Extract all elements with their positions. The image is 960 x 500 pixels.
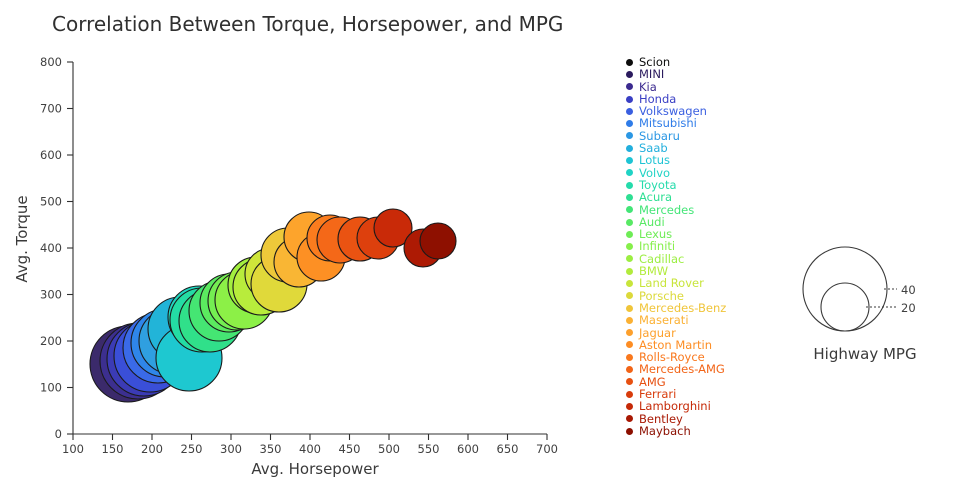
y-tick-label: 400	[40, 241, 62, 255]
legend-swatch-icon	[626, 71, 633, 78]
legend-swatch-icon	[626, 145, 633, 152]
y-tick-layer: 0100200300400500600700800	[40, 55, 73, 441]
legend-swatch-icon	[626, 391, 633, 398]
legend-swatch-icon	[626, 206, 633, 213]
y-tick-label: 700	[40, 102, 62, 116]
x-tick-label: 150	[102, 442, 124, 456]
x-tick-layer: 100150200250300350400450500550600650700	[62, 434, 558, 456]
legend-swatch-icon	[626, 378, 633, 385]
legend-item[interactable]: Land Rover	[626, 277, 776, 289]
legend-swatch-icon	[626, 305, 633, 312]
x-tick-label: 550	[418, 442, 440, 456]
legend-swatch-icon	[626, 182, 633, 189]
bubble-maybach: Maybach	[420, 223, 456, 259]
x-tick-label: 100	[62, 442, 84, 456]
legend-item-label: Maybach	[639, 425, 691, 437]
x-tick-label: 700	[536, 442, 558, 456]
y-tick-label: 0	[55, 427, 62, 441]
size-legend-value-40: 40	[901, 283, 916, 297]
x-tick-label: 600	[457, 442, 479, 456]
legend-item-label: MINI	[639, 68, 664, 80]
size-legend: 4020	[803, 247, 916, 331]
legend-item[interactable]: Mercedes	[626, 204, 776, 216]
legend-item[interactable]: Maserati	[626, 314, 776, 326]
legend-swatch-icon	[626, 219, 633, 226]
legend-item-label: Mercedes	[639, 204, 694, 216]
legend-item[interactable]: Lamborghini	[626, 400, 776, 412]
legend-item[interactable]: Infiniti	[626, 240, 776, 252]
y-tick-label: 800	[40, 55, 62, 69]
color-legend: ScionMINIKiaHondaVolkswagenMitsubishiSub…	[626, 56, 776, 437]
legend-swatch-icon	[626, 341, 633, 348]
legend-swatch-icon	[626, 120, 633, 127]
legend-swatch-icon	[626, 132, 633, 139]
legend-swatch-icon	[626, 366, 633, 373]
plot-area: 0100200300400500600700800 10015020025030…	[0, 0, 960, 500]
legend-swatch-icon	[626, 354, 633, 361]
size-legend-circle-20	[821, 283, 869, 331]
legend-swatch-icon	[626, 108, 633, 115]
legend-item-label: Maserati	[639, 314, 689, 326]
legend-swatch-icon	[626, 59, 633, 66]
x-tick-label: 300	[220, 442, 242, 456]
legend-item[interactable]: Mercedes-AMG	[626, 363, 776, 375]
y-tick-label: 200	[40, 334, 62, 348]
legend-swatch-icon	[626, 280, 633, 287]
legend-swatch-icon	[626, 169, 633, 176]
legend-item[interactable]: Maybach	[626, 425, 776, 437]
x-tick-label: 450	[339, 442, 361, 456]
legend-swatch-icon	[626, 415, 633, 422]
legend-item-label: Infiniti	[639, 240, 675, 252]
legend-swatch-icon	[626, 96, 633, 103]
legend-item-label: Mercedes-AMG	[639, 363, 725, 375]
legend-item-label: Acura	[639, 191, 672, 203]
y-tick-label: 600	[40, 148, 62, 162]
legend-swatch-icon	[626, 317, 633, 324]
legend-swatch-icon	[626, 268, 633, 275]
legend-item-label: Lotus	[639, 154, 670, 166]
legend-item[interactable]: MINI	[626, 68, 776, 80]
x-tick-label: 350	[260, 442, 282, 456]
y-tick-label: 300	[40, 288, 62, 302]
legend-item-label: Land Rover	[639, 277, 704, 289]
legend-swatch-icon	[626, 194, 633, 201]
legend-swatch-icon	[626, 403, 633, 410]
y-tick-label: 100	[40, 381, 62, 395]
legend-item-label: Jaguar	[639, 327, 676, 339]
legend-item[interactable]: Lotus	[626, 154, 776, 166]
legend-item[interactable]: Mitsubishi	[626, 117, 776, 129]
x-tick-label: 500	[378, 442, 400, 456]
x-tick-label: 200	[141, 442, 163, 456]
y-tick-label: 500	[40, 195, 62, 209]
size-legend-title: Highway MPG	[770, 345, 960, 363]
bubble-chart: Correlation Between Torque, Horsepower, …	[0, 0, 960, 500]
legend-swatch-icon	[626, 255, 633, 262]
x-tick-label: 400	[299, 442, 321, 456]
x-tick-label: 650	[497, 442, 519, 456]
legend-swatch-icon	[626, 83, 633, 90]
x-tick-label: 250	[181, 442, 203, 456]
legend-swatch-icon	[626, 329, 633, 336]
legend-swatch-icon	[626, 243, 633, 250]
legend-swatch-icon	[626, 231, 633, 238]
legend-item[interactable]: Jaguar	[626, 327, 776, 339]
size-legend-value-20: 20	[901, 301, 916, 315]
bubble-layer: ScionMINIKiaHondaVolkswagenMitsubishiSub…	[90, 209, 456, 402]
legend-swatch-icon	[626, 428, 633, 435]
legend-item-label: Lamborghini	[639, 400, 711, 412]
size-legend-circle-40	[803, 247, 887, 331]
legend-item[interactable]: Acura	[626, 191, 776, 203]
legend-swatch-icon	[626, 292, 633, 299]
legend-item-label: Mitsubishi	[639, 117, 697, 129]
legend-swatch-icon	[626, 157, 633, 164]
